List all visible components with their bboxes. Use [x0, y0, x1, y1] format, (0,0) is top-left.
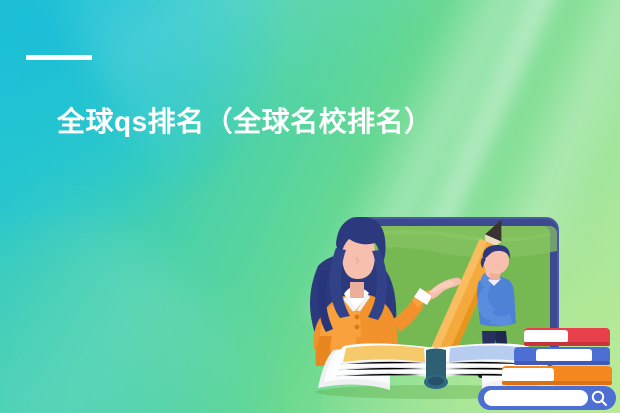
accent-rule	[26, 55, 92, 60]
background-tint-bottom-left	[0, 215, 285, 413]
search-icon	[590, 389, 608, 407]
education-illustration	[296, 196, 620, 413]
book-orange	[502, 366, 612, 385]
page-title: 全球qs排名（全球名校排名）	[57, 104, 433, 140]
search-bar[interactable]	[478, 386, 616, 410]
banner: 全球qs排名（全球名校排名）	[0, 0, 620, 413]
book-red	[524, 328, 610, 346]
book-blue	[514, 347, 610, 365]
